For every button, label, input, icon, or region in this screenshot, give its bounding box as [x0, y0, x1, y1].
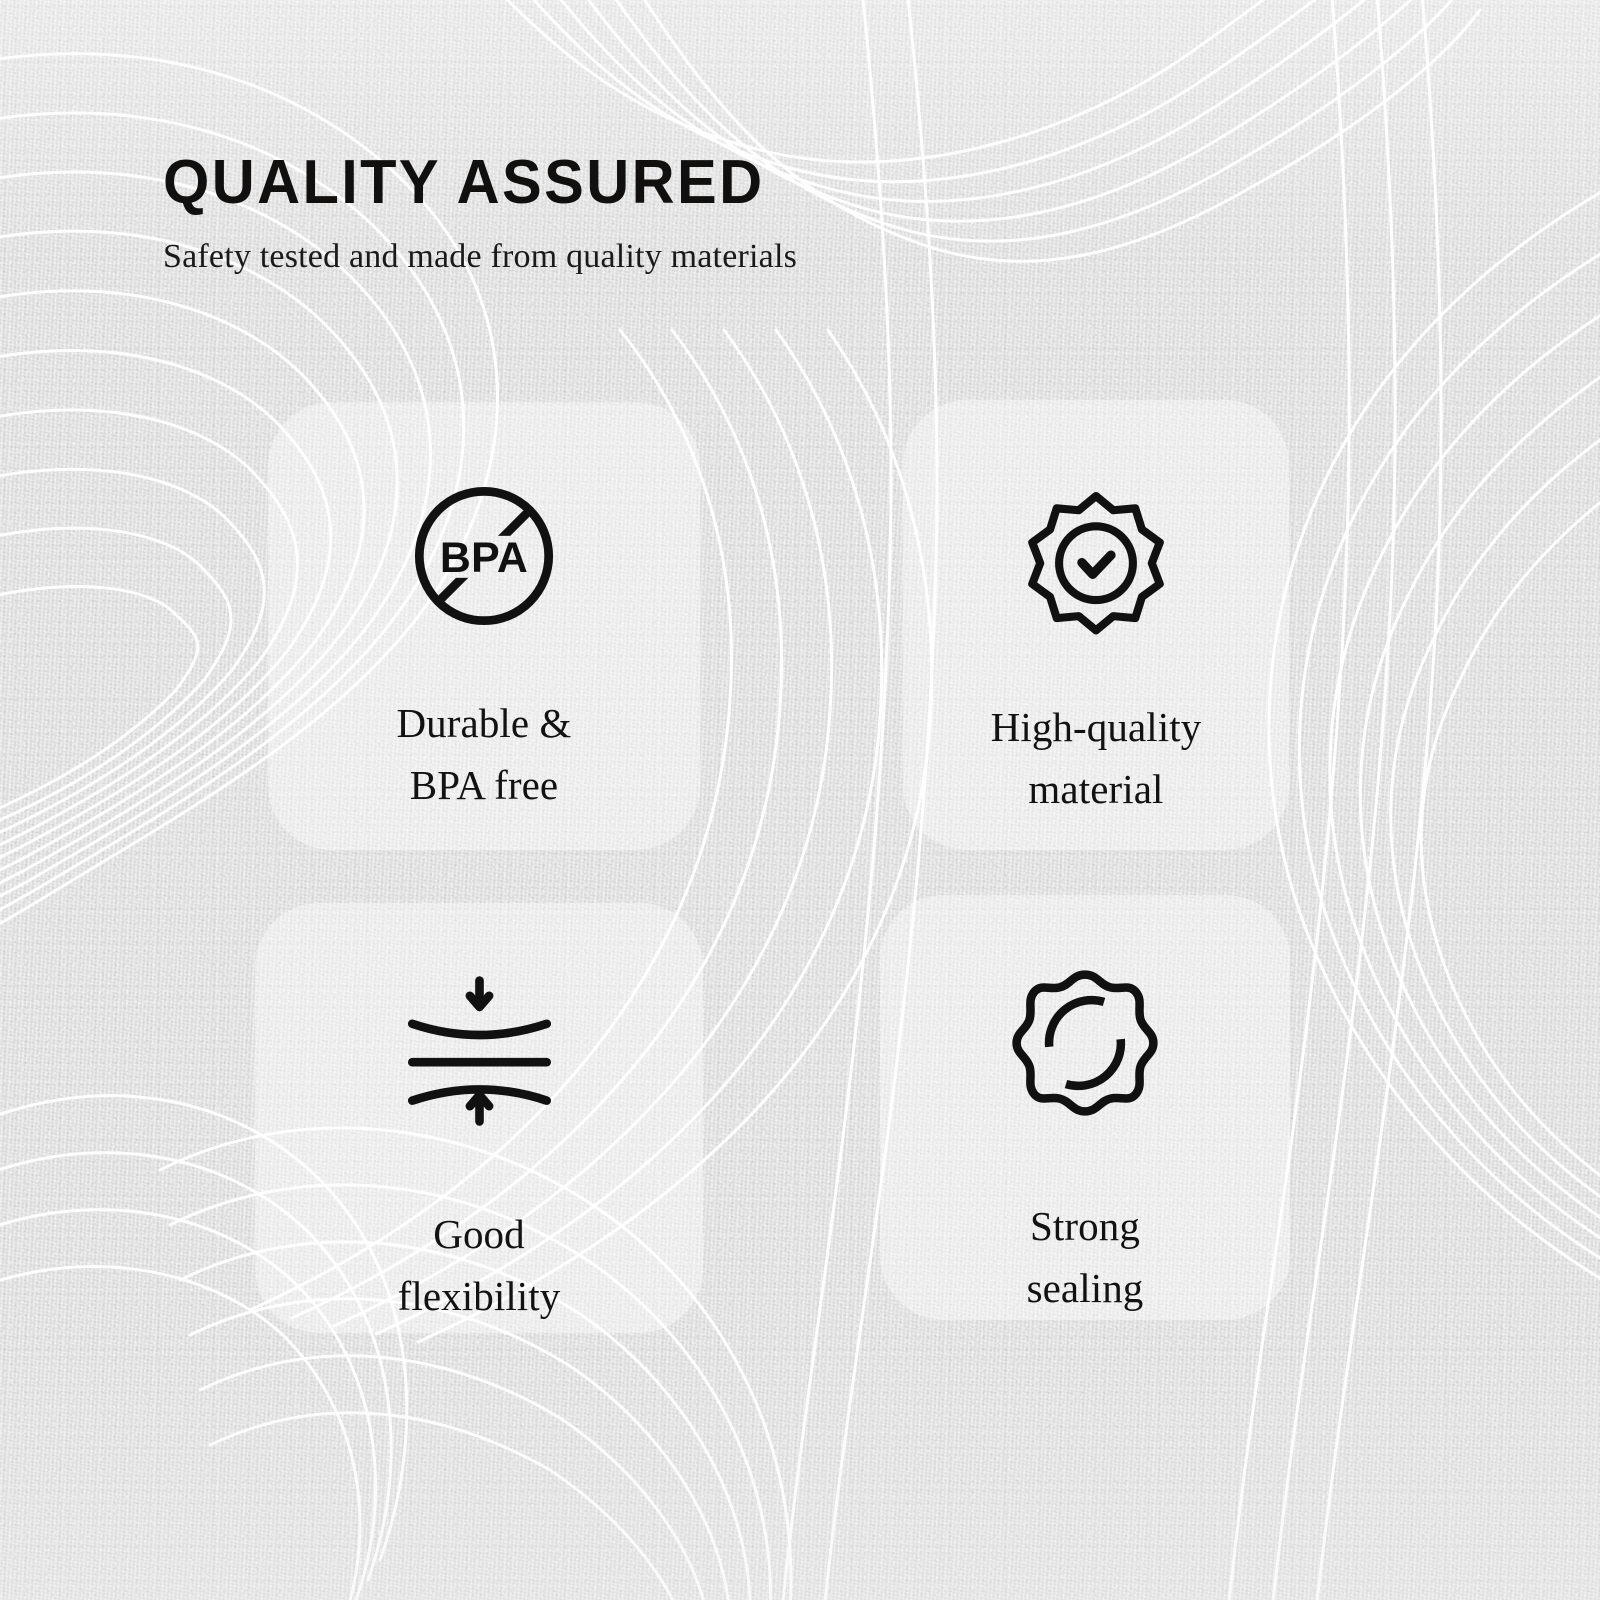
feature-card-label: Strong sealing — [1027, 1195, 1144, 1320]
feature-card-high-quality-material[interactable]: High-quality material — [903, 400, 1289, 850]
feature-card-label-line-1: Good — [398, 1203, 561, 1265]
feature-card-durable-bpa-free[interactable]: BPA Durable & BPA free — [268, 402, 700, 850]
feature-card-strong-sealing[interactable]: Strong sealing — [880, 895, 1290, 1320]
feature-card-label-line-1: High-quality — [991, 696, 1202, 758]
feature-card-label-line-2: BPA free — [396, 754, 571, 816]
feature-card-label-line-2: material — [991, 758, 1202, 820]
flexibility-compression-icon — [397, 951, 562, 1151]
feature-card-good-flexibility[interactable]: Good flexibility — [255, 903, 703, 1333]
seal-rotation-icon — [1009, 943, 1161, 1143]
poster-canvas: QUALITY ASSURED Safety tested and made f… — [0, 0, 1600, 1600]
feature-card-label-line-1: Strong — [1027, 1195, 1144, 1257]
bpa-free-icon: BPA — [400, 456, 568, 656]
bpa-icon-text: BPA — [440, 534, 528, 582]
feature-card-label-line-2: flexibility — [398, 1265, 561, 1327]
feature-card-label-line-2: sealing — [1027, 1257, 1144, 1319]
feature-card-grid: BPA Durable & BPA free — [0, 0, 1600, 1600]
feature-card-label: Good flexibility — [398, 1203, 561, 1328]
feature-card-label: Durable & BPA free — [396, 692, 571, 817]
feature-card-label-line-1: Durable & — [396, 692, 571, 754]
quality-badge-check-icon — [1021, 462, 1171, 662]
feature-card-label: High-quality material — [991, 696, 1202, 821]
